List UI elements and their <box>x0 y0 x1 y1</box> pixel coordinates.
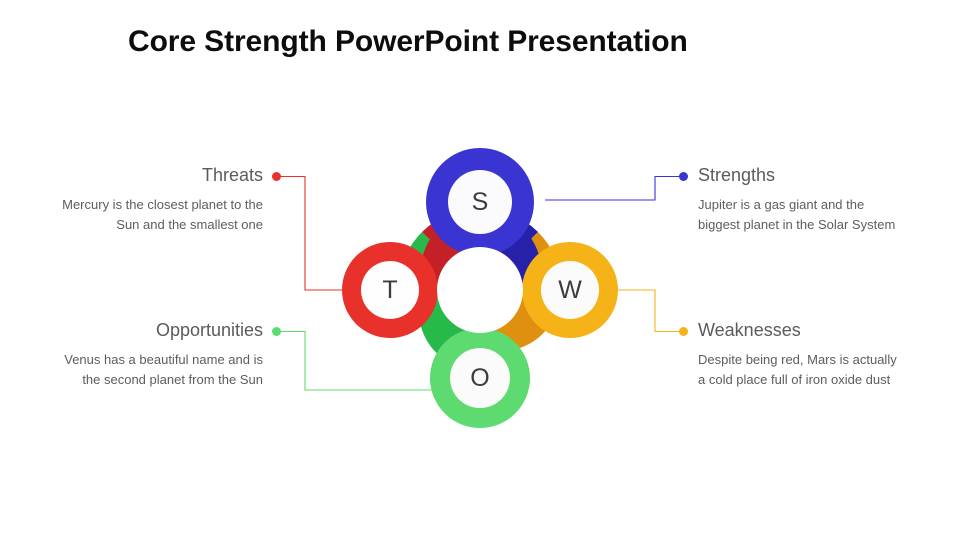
bullet-dot-opportunities <box>272 327 281 336</box>
bullet-dot-strengths <box>679 172 688 181</box>
bullet-dot-threats <box>272 172 281 181</box>
lobe-letter-weaknesses: W <box>558 276 582 304</box>
callout-body-opportunities: Venus has a beautiful name and is the se… <box>60 350 263 390</box>
lobe-letter-opportunities: O <box>470 364 489 392</box>
callout-body-threats: Mercury is the closest planet to the Sun… <box>60 195 263 235</box>
bullet-dot-weaknesses <box>679 327 688 336</box>
lobe-letter-strengths: S <box>472 188 489 216</box>
callout-body-weaknesses: Despite being red, Mars is actually a co… <box>698 350 898 390</box>
callout-heading-threats: Threats <box>60 164 263 186</box>
slide-canvas: Core Strength PowerPoint Presentation <box>0 0 960 540</box>
swot-flower-diagram: S W O T <box>330 148 630 432</box>
lobe-letter-threats: T <box>382 276 397 304</box>
callout-opportunities: Opportunities Venus has a beautiful name… <box>60 319 263 390</box>
callout-heading-weaknesses: Weaknesses <box>698 319 898 341</box>
callout-weaknesses: Weaknesses Despite being red, Mars is ac… <box>698 319 898 390</box>
page-title: Core Strength PowerPoint Presentation <box>128 25 888 59</box>
center-hub <box>437 247 523 333</box>
callout-heading-strengths: Strengths <box>698 164 898 186</box>
callout-strengths: Strengths Jupiter is a gas giant and the… <box>698 164 898 235</box>
callout-threats: Threats Mercury is the closest planet to… <box>60 164 263 235</box>
callout-heading-opportunities: Opportunities <box>60 319 263 341</box>
callout-body-strengths: Jupiter is a gas giant and the biggest p… <box>698 195 898 235</box>
